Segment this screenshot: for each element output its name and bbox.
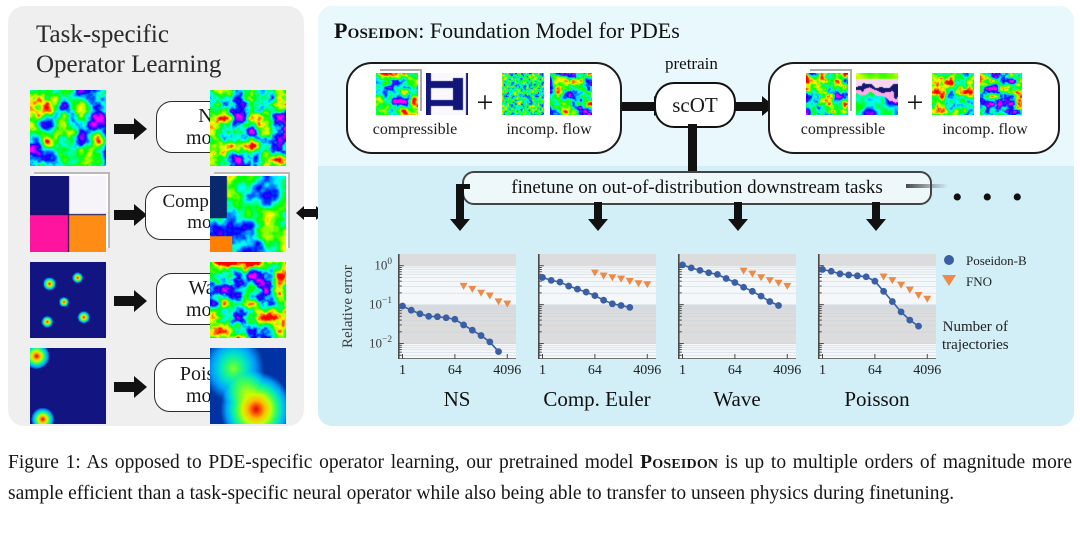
- incompressible-output-thumbnail-1: [932, 73, 974, 115]
- euler-output-thumbnail: [210, 176, 286, 252]
- chart-title-2: Wave: [678, 387, 796, 412]
- figure-caption: Figure 1: As opposed to PDE-specific ope…: [8, 448, 1072, 510]
- poseidon-marker-icon: [942, 253, 956, 269]
- task-specific-panel: Task-specific Operator Learning NSmodelC…: [8, 6, 304, 426]
- chart-canvas-1: [538, 254, 656, 359]
- finetune-fade-line: [906, 184, 948, 188]
- chart-title-0: NS: [398, 387, 516, 412]
- finetune-arrow-poisson: [872, 202, 880, 220]
- incompressible-input-thumbnail-1: [502, 73, 544, 115]
- chart-title-1: Comp. Euler: [538, 387, 656, 412]
- compressible-output-thumbnail-2: [856, 73, 898, 115]
- finetune-arrow-ns: [456, 186, 464, 220]
- x-axis-note: Number of trajectories: [942, 318, 1009, 354]
- pretrain-output-box: + compressible incomp. flow: [768, 62, 1060, 154]
- pretrain-label: pretrain: [665, 54, 718, 74]
- chart-canvas-0: [398, 254, 516, 359]
- fno-marker-icon: [942, 274, 956, 290]
- pretrain-input-label-left: compressible: [356, 122, 474, 138]
- chart-canvas-3: [818, 254, 936, 359]
- incompressible-input-thumbnail-2: [550, 73, 592, 115]
- x-tick-label-0-0: 1: [381, 363, 425, 379]
- chart-legend: Poseidon-B FNO: [942, 250, 1027, 292]
- pretrain-input-plus: +: [474, 91, 497, 115]
- legend-item-poseidon: Poseidon-B: [942, 250, 1027, 271]
- finetune-arrow-ns-elbow: [456, 184, 470, 189]
- figure-root: Task-specific Operator Learning NSmodelC…: [0, 0, 1080, 544]
- x-tick-label-3-0: 1: [801, 363, 845, 379]
- arrow-input-to-model-1: [114, 210, 136, 220]
- x-tick-label-0-1: 64: [433, 363, 477, 379]
- finetune-bar[interactable]: finetune on out-of-distribution downstre…: [462, 171, 932, 205]
- x-tick-label-1-1: 64: [573, 363, 617, 379]
- arrow-from-scot: [734, 102, 764, 111]
- task-specific-panel-title: Task-specific Operator Learning: [36, 20, 296, 79]
- compressible-output-thumbnail-1: [806, 73, 848, 115]
- task-specific-title-line2: Operator Learning: [36, 51, 221, 78]
- poseidon-title-name: Poseidon: [334, 18, 418, 43]
- pretrain-output-label-left: compressible: [778, 122, 908, 138]
- poseidon-panel: Poseidon: Foundation Model for PDEs + co…: [318, 6, 1074, 426]
- poseidon-title-rest: : Foundation Model for PDEs: [418, 18, 680, 43]
- chart-title-3: Poisson: [818, 387, 936, 412]
- finetune-arrow-comp-euler: [594, 202, 602, 220]
- ns-output-thumbnail: [210, 90, 286, 166]
- task-row-1: Comp. Eulermodel: [8, 174, 304, 258]
- x-tick-label-2-0: 1: [661, 363, 705, 379]
- poseidon-panel-title: Poseidon: Foundation Model for PDEs: [334, 18, 680, 44]
- x-tick-label-3-2: 4096: [905, 363, 949, 379]
- chart-poisson: 1644096Poisson: [818, 254, 936, 359]
- euler-field-thumbnail: [30, 176, 106, 252]
- pretrain-input-label-right: incomp. flow: [486, 122, 612, 138]
- caption-prefix: Figure 1: As opposed to PDE-specific ope…: [8, 452, 640, 473]
- arrow-to-scot: [622, 102, 656, 111]
- task-row-0: NSmodel: [8, 88, 304, 172]
- wave-field-thumbnail: [30, 262, 106, 338]
- x-tick-label-2-1: 64: [713, 363, 757, 379]
- ns-field-thumbnail: [30, 90, 106, 166]
- x-tick-label-3-1: 64: [853, 363, 897, 379]
- y-tick-label-0: 100: [348, 257, 392, 273]
- y-tick-label-2: 10−2: [348, 335, 392, 351]
- chart-wave: 1644096Wave: [678, 254, 796, 359]
- compressible-input-thumbnail-1: [376, 73, 418, 115]
- task-specific-title-line1: Task-specific: [36, 21, 169, 48]
- incompressible-output-thumbnail-2: [980, 73, 1022, 115]
- x-axis-note-line2: trajectories: [942, 337, 1009, 353]
- pretrain-output-label-right: incomp. flow: [920, 122, 1050, 138]
- ellipsis-dots: • • •: [952, 189, 1029, 207]
- x-axis-note-line1: Number of: [943, 319, 1008, 335]
- y-tick-label-1: 10−1: [348, 296, 392, 312]
- task-row-3: Poissonmodel: [8, 346, 304, 430]
- legend-label-fno: FNO: [966, 274, 992, 290]
- chart-comp-euler: 1644096Comp. Euler: [538, 254, 656, 359]
- legend-item-fno: FNO: [942, 271, 1027, 292]
- legend-label-poseidon: Poseidon-B: [966, 253, 1027, 269]
- chart-ns: 1644096NS: [398, 254, 516, 359]
- poisson-field-thumbnail: [30, 348, 106, 424]
- scot-model-box[interactable]: scOT: [654, 82, 736, 128]
- arrow-input-to-model-2: [114, 296, 136, 306]
- x-tick-label-1-0: 1: [521, 363, 565, 379]
- chart-canvas-2: [678, 254, 796, 359]
- arrow-input-to-model-3: [114, 382, 136, 392]
- finetune-arrow-wave: [734, 202, 742, 220]
- arrow-input-to-model-0: [114, 124, 136, 134]
- caption-poseidon-name: Poseidon: [640, 452, 718, 473]
- pretrain-input-box: + compressible incomp. flow: [346, 62, 622, 154]
- scot-to-finetune-stem: [688, 124, 697, 178]
- pretrain-output-plus: +: [904, 91, 927, 115]
- wave-output-thumbnail: [210, 262, 286, 338]
- compressible-input-thumbnail-2: [426, 73, 468, 115]
- poisson-output-thumbnail: [210, 348, 286, 424]
- task-row-2: Wavemodel: [8, 260, 304, 344]
